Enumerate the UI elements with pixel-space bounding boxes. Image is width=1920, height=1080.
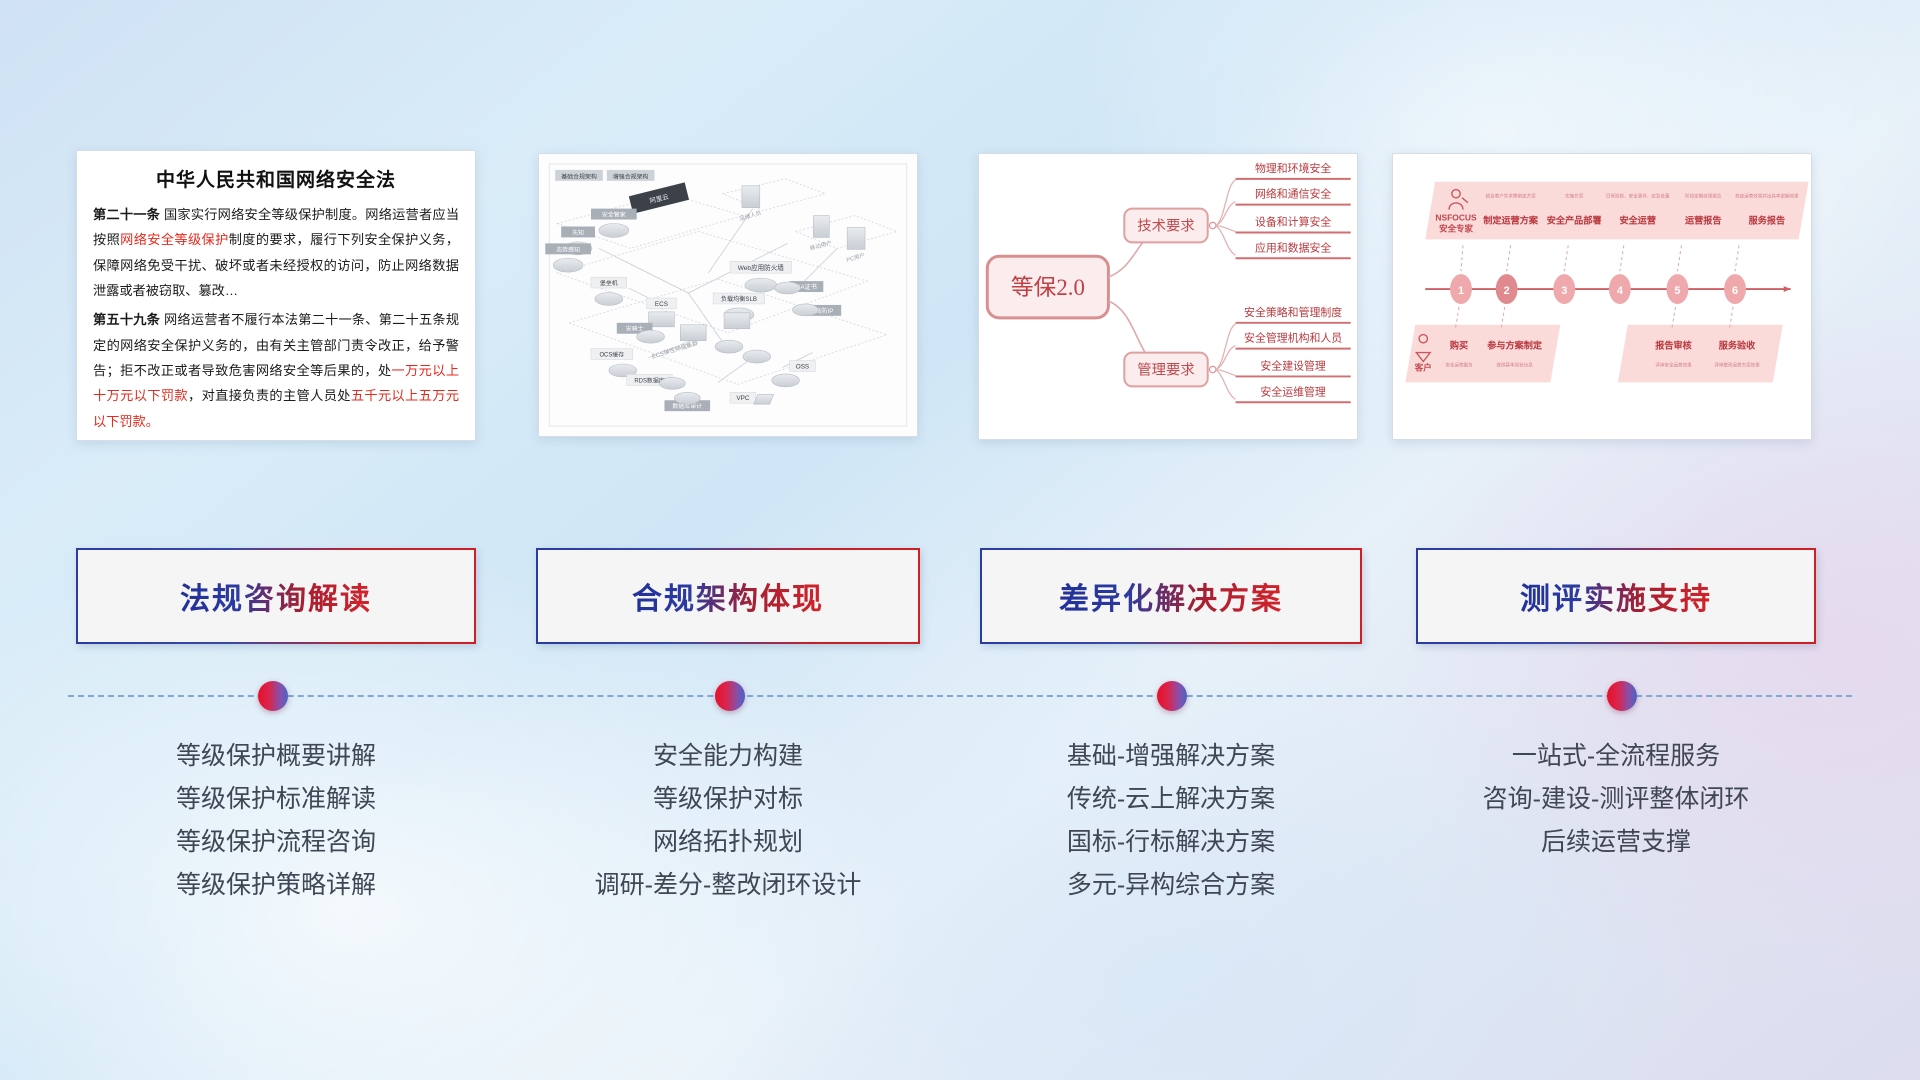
- timeline-diagram: NSFOCUS 安全专家 结合客户实求需制定方案 实施方案 日常巡检、安全事件、…: [1393, 154, 1811, 439]
- node-anqishi: 安骑士: [626, 325, 644, 333]
- list-item: 网络拓扑规划: [536, 821, 920, 864]
- node-bastion-host: 堡垒机: [600, 279, 618, 287]
- timeline-top-title-3: 安全运营: [1619, 215, 1656, 226]
- card-dengbao-mindmap: 等保2.0 技术要求 物理: [978, 153, 1358, 440]
- list-item: 多元-异构综合方案: [980, 864, 1362, 907]
- node-xianzhi: 先知: [572, 228, 584, 236]
- detail-list-3: 基础-增强解决方案 传统-云上解决方案 国标-行标解决方案 多元-异构综合方案: [980, 735, 1362, 907]
- timeline-top-title-2: 安全产品部署: [1547, 215, 1602, 226]
- section-title-box-4[interactable]: 测评实施支持: [1416, 548, 1816, 644]
- law-article-label: 第五十九条: [93, 312, 160, 327]
- list-item: 调研-差分-整改闭环设计: [536, 864, 920, 907]
- mindmap-leaf-t2: 网络和通信安全: [1255, 187, 1331, 201]
- section-title-box-1[interactable]: 法规咨询解读: [76, 548, 476, 644]
- timeline-bottom-sub-4: 评审整改运营方案效果: [1714, 362, 1760, 369]
- list-item: 等级保护标准解读: [76, 778, 476, 821]
- timeline-bottom-title-2: 参与方案制定: [1487, 340, 1543, 351]
- law-text-plain: ，对直接负责的主管人员处: [188, 388, 351, 403]
- timeline-dashed-axis: [68, 695, 1852, 697]
- timeline-step-1: 1: [1458, 285, 1464, 297]
- timeline-top-sub-4: 阶段定期效果报告: [1685, 193, 1722, 200]
- card-compliance-architecture: 基础合规架构 增强合规架构 阿里云: [538, 153, 918, 437]
- section-title-box-3[interactable]: 差异化解决方案: [980, 548, 1362, 644]
- section-title-label-3: 差异化解决方案: [1059, 574, 1283, 618]
- card-cybersecurity-law: 中华人民共和国网络安全法 第二十一条 国家实行网络安全等级保护制度。网络运营者应…: [76, 150, 476, 441]
- mindmap-leaf-m1: 安全策略和管理制度: [1244, 305, 1342, 319]
- list-item: 国标-行标解决方案: [980, 821, 1362, 864]
- section-detail-row: 等级保护概要讲解 等级保护标准解读 等级保护流程咨询 等级保护策略详解 安全能力…: [0, 735, 1920, 955]
- law-text-highlight: 网络安全等级保护: [120, 232, 229, 247]
- node-web-waf: Web应用防火墙: [738, 263, 785, 272]
- legend-enhanced: 增强合规架构: [613, 172, 649, 180]
- timeline-step-5: 5: [1674, 285, 1680, 297]
- law-paragraph-59: 第五十九条 网络运营者不履行本法第二十一条、第二十五条规定的网络安全保护义务的，…: [93, 307, 459, 434]
- timeline-top-sub-2: 实施方案: [1565, 193, 1584, 200]
- slide-canvas: 中华人民共和国网络安全法 第二十一条 国家实行网络安全等级保护制度。网络运营者应…: [0, 0, 1920, 1080]
- node-slb: 负载均衡SLB: [721, 295, 757, 303]
- timeline-top-sub-5: 总结运营效果并出具本定期效果: [1735, 193, 1799, 200]
- timeline-top-actor-name: NSFOCUS: [1435, 213, 1477, 223]
- mindmap-root-label: 等保2.0: [1011, 275, 1085, 300]
- list-item: 咨询-建设-测评整体闭环: [1416, 778, 1816, 821]
- node-ecs: ECS: [655, 301, 668, 308]
- section-title-box-2[interactable]: 合规架构体现: [536, 548, 920, 644]
- section-title-label-4: 测评实施支持: [1520, 574, 1712, 618]
- timeline-top-sub-1: 结合客户实求需制定方案: [1486, 193, 1536, 200]
- node-situational-awareness: 态势感知: [556, 245, 580, 253]
- timeline-marker-1[interactable]: [258, 681, 288, 711]
- mindmap-leaf-m2: 安全管理机构和人员: [1244, 331, 1342, 345]
- mindmap-leaf-t4: 应用和数据安全: [1255, 240, 1331, 254]
- mindmap-leaf-t1: 物理和环境安全: [1255, 161, 1331, 175]
- mindmap-branch-management: 管理要求: [1137, 361, 1195, 378]
- timeline-top-actor-role: 安全专家: [1439, 223, 1473, 233]
- timeline-bottom-actor-role: 客户: [1414, 362, 1432, 372]
- mindmap-leaf-m4: 安全运维管理: [1260, 384, 1326, 398]
- architecture-svg: 基础合规架构 增强合规架构 阿里云: [539, 154, 917, 436]
- list-item: 等级保护概要讲解: [76, 735, 476, 778]
- list-item: 等级保护对标: [536, 778, 920, 821]
- timeline-step-4: 4: [1617, 285, 1623, 297]
- list-item: 等级保护策略详解: [76, 864, 476, 907]
- mindmap-leaf-t3: 设备和计算安全: [1255, 214, 1331, 228]
- list-item: 安全能力构建: [536, 735, 920, 778]
- mindmap-diagram: 等保2.0 技术要求 物理: [979, 154, 1357, 439]
- list-item: 传统-云上解决方案: [980, 778, 1362, 821]
- list-item: 后续运营支撑: [1416, 821, 1816, 864]
- detail-list-4: 一站式-全流程服务 咨询-建设-测评整体闭环 后续运营支撑: [1416, 735, 1816, 864]
- timeline-marker-2[interactable]: [715, 681, 745, 711]
- timeline-top-title-5: 服务报告: [1749, 215, 1786, 226]
- timeline-svg: NSFOCUS 安全专家 结合客户实求需制定方案 实施方案 日常巡检、安全事件、…: [1393, 154, 1811, 439]
- timeline-marker-3[interactable]: [1157, 681, 1187, 711]
- section-title-label-2: 合规架构体现: [632, 574, 824, 618]
- timeline-top-sub-3: 日常巡检、安全事件、应急处置: [1606, 193, 1670, 200]
- list-item: 等级保护流程咨询: [76, 821, 476, 864]
- list-item: 一站式-全流程服务: [1416, 735, 1816, 778]
- node-safety-butler: 安全管家: [602, 211, 626, 219]
- architecture-diagram: 基础合规架构 增强合规架构 阿里云: [539, 154, 917, 436]
- law-paragraph-21: 第二十一条 国家实行网络安全等级保护制度。网络运营者应当按照网络安全等级保护制度…: [93, 202, 459, 303]
- section-title-label-1: 法规咨询解读: [180, 574, 372, 618]
- list-item: 基础-增强解决方案: [980, 735, 1362, 778]
- mindmap-leaf-m3: 安全建设管理: [1260, 358, 1326, 372]
- detail-list-1: 等级保护概要讲解 等级保护标准解读 等级保护流程咨询 等级保护策略详解: [76, 735, 476, 907]
- law-title: 中华人民共和国网络安全法: [93, 165, 459, 192]
- detail-list-2: 安全能力构建 等级保护对标 网络拓扑规划 调研-差分-整改闭环设计: [536, 735, 920, 907]
- timeline-bottom-sub-3: 评审安全运营效果: [1655, 362, 1692, 369]
- card-service-timeline: NSFOCUS 安全专家 结合客户实求需制定方案 实施方案 日常巡检、安全事件、…: [1392, 153, 1812, 440]
- timeline-step-3: 3: [1561, 285, 1567, 297]
- legend-basic: 基础合规架构: [561, 172, 597, 180]
- mindmap-branch-technical: 技术要求: [1137, 217, 1195, 234]
- timeline-bottom-sub-1: 安全运营服务: [1445, 362, 1473, 369]
- node-oss: OSS: [796, 363, 809, 370]
- timeline-marker-4[interactable]: [1607, 681, 1637, 711]
- evidence-card-row: 中华人民共和国网络安全法 第二十一条 国家实行网络安全等级保护制度。网络运营者应…: [0, 150, 1920, 445]
- timeline-step-2: 2: [1504, 285, 1510, 297]
- node-ocs-cache: OCS缓存: [599, 351, 624, 359]
- timeline-bottom-title-3: 报告审核: [1655, 340, 1692, 351]
- timeline-top-title-1: 制定运营方案: [1483, 215, 1539, 226]
- timeline-bottom-title-1: 购买: [1450, 340, 1468, 351]
- section-title-row: 法规咨询解读 合规架构体现 差异化解决方案 测评实施支持: [0, 548, 1920, 644]
- node-vpc: VPC: [736, 395, 749, 402]
- law-article-label: 第二十一条: [93, 207, 160, 222]
- mindmap-svg: 等保2.0 技术要求 物理: [979, 154, 1357, 439]
- timeline-top-title-4: 运营报告: [1685, 215, 1722, 226]
- timeline-bottom-sub-2: 提供基本现状信息: [1496, 362, 1533, 369]
- timeline-step-6: 6: [1732, 285, 1738, 297]
- timeline-bottom-title-4: 服务验收: [1719, 340, 1756, 351]
